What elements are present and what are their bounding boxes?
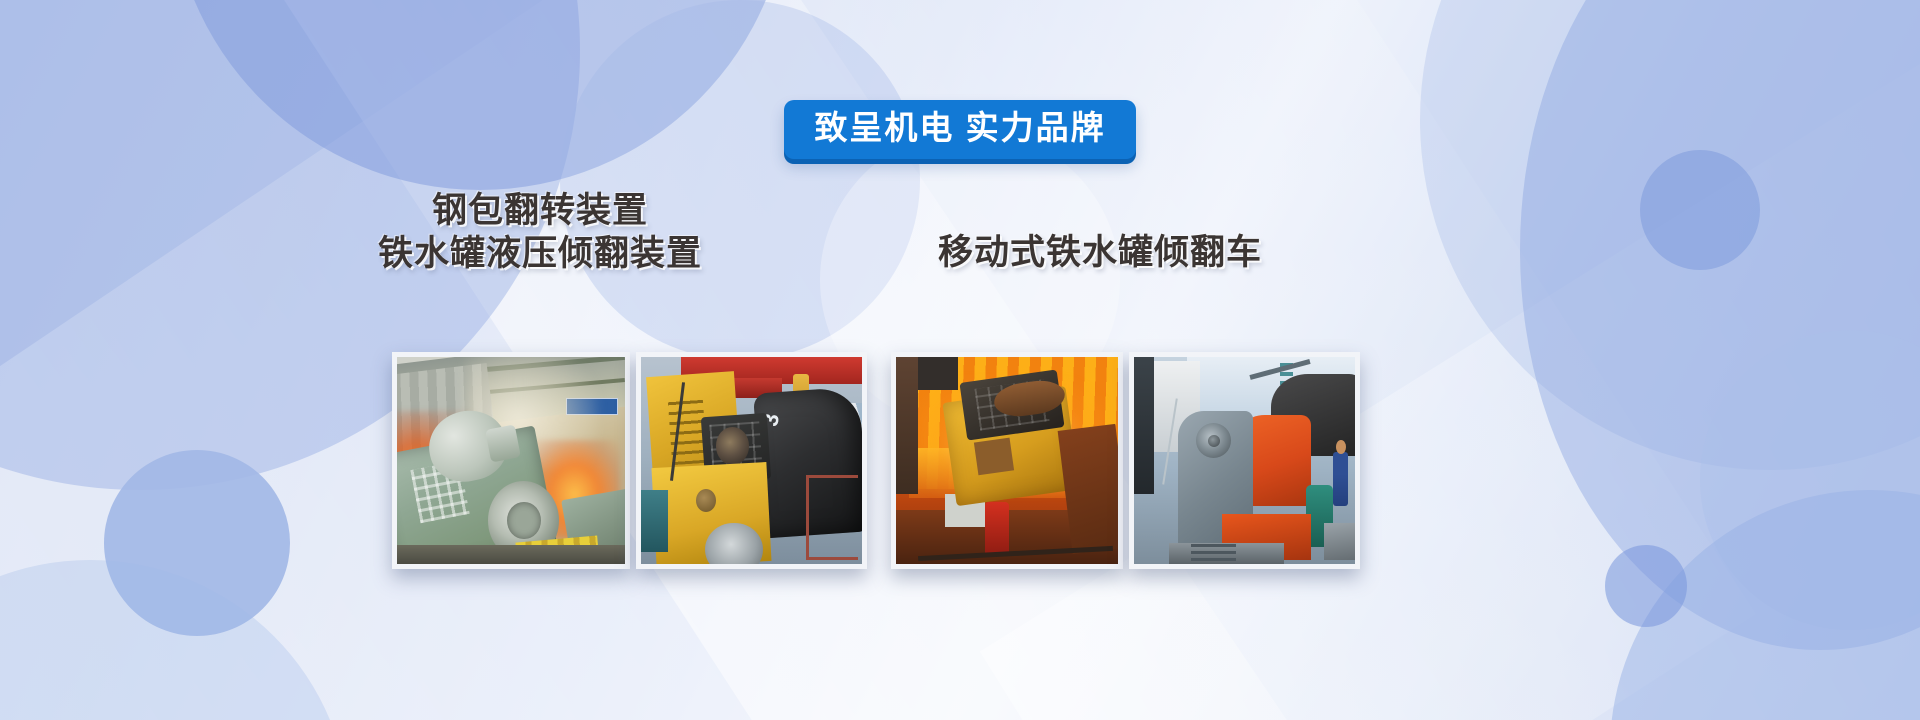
brand-badge[interactable]: 致呈机电 实力品牌 bbox=[784, 100, 1135, 159]
decor-circle-bottom-left bbox=[0, 560, 350, 720]
decor-circle-top-right-tall bbox=[1520, 0, 1920, 650]
decor-circle-right-soft bbox=[1700, 330, 1920, 630]
brand-badge-label: 致呈机电 实力品牌 bbox=[814, 110, 1105, 147]
badge-row: 致呈机电 实力品牌 bbox=[0, 100, 1920, 159]
photo-4-image bbox=[1134, 357, 1355, 564]
decor-circle-bottom-right-large bbox=[1610, 490, 1920, 720]
promo-banner: 致呈机电 实力品牌 钢包翻转装置 铁水罐液压倾翻装置 移动式铁水罐倾翻车 bbox=[0, 0, 1920, 720]
photo-4[interactable] bbox=[1129, 352, 1360, 569]
photo-2-image: 3 bbox=[641, 357, 862, 564]
photo-1[interactable] bbox=[392, 352, 630, 569]
photo-group-left: 3 bbox=[392, 352, 867, 569]
decor-circle-left-solid bbox=[104, 450, 290, 636]
photo-2[interactable]: 3 bbox=[636, 352, 867, 569]
decor-circle-upper-mid bbox=[560, 0, 920, 360]
heading-right: 移动式铁水罐倾翻车 bbox=[840, 232, 1360, 275]
heading-right-line1: 移动式铁水罐倾翻车 bbox=[840, 232, 1360, 275]
photo-1-image bbox=[397, 357, 625, 564]
photo-3-image bbox=[896, 357, 1118, 564]
heading-left: 钢包翻转装置 铁水罐液压倾翻装置 bbox=[330, 190, 750, 275]
heading-left-line2: 铁水罐液压倾翻装置 bbox=[330, 233, 750, 276]
photo-3[interactable] bbox=[891, 352, 1123, 569]
decor-circle-bottom-right-small bbox=[1605, 545, 1687, 627]
photo-group-right bbox=[891, 352, 1360, 569]
headings-row: 钢包翻转装置 铁水罐液压倾翻装置 移动式铁水罐倾翻车 bbox=[0, 190, 1920, 300]
product-photo-strip: 3 bbox=[392, 352, 1360, 569]
decor-circle-top-left-deep bbox=[170, 0, 790, 190]
heading-left-line1: 钢包翻转装置 bbox=[330, 190, 750, 233]
